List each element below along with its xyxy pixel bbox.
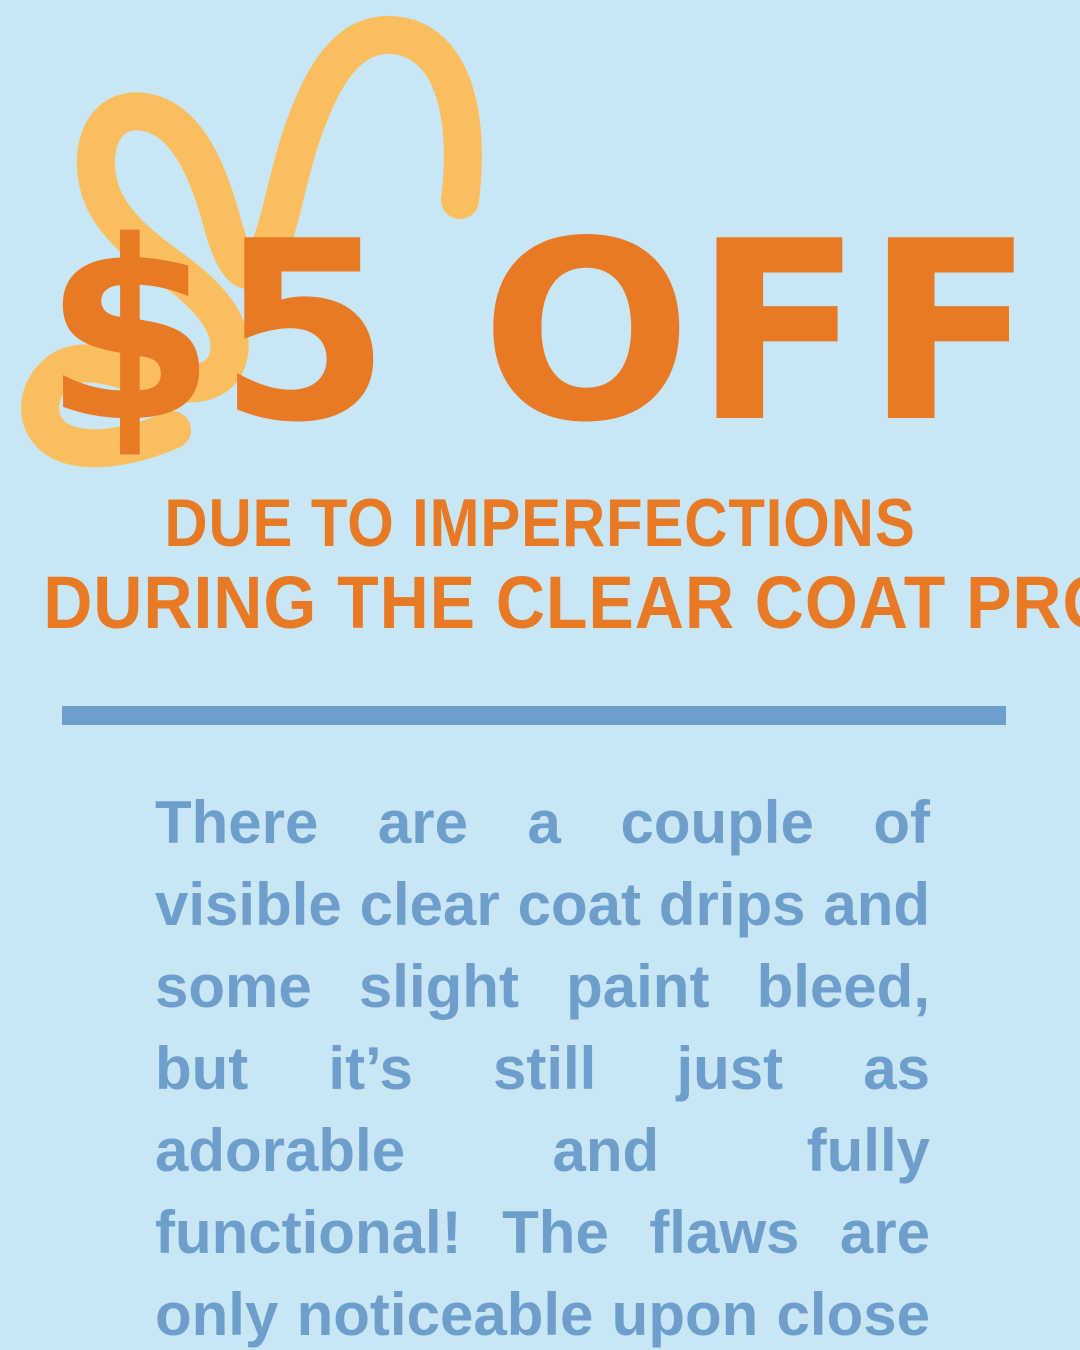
divider-bar [62,706,1006,725]
subheading-line-2: DURING THE CLEAR COAT PROCESS [43,560,1037,646]
subheading: DUE TO IMPERFECTIONS DURING THE CLEAR CO… [0,486,1080,646]
promo-poster: $5 OFF DUE TO IMPERFECTIONS DURING THE C… [0,0,1080,1350]
page-title: $5 OFF [0,214,1080,452]
subheading-line-1: DUE TO IMPERFECTIONS [65,486,1015,560]
body-paragraph: There are a couple of visible clear coat… [155,782,930,1350]
